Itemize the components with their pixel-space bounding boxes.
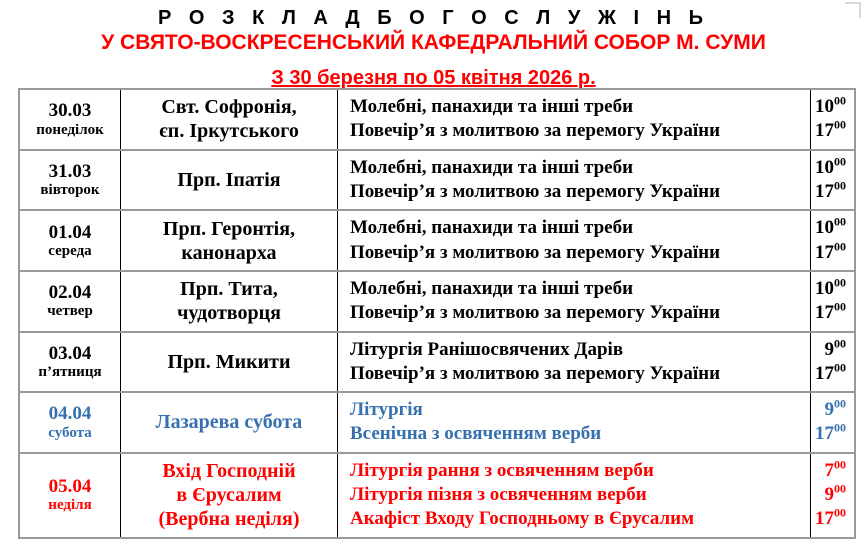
page-title: Р О З К Л А Д Б О Г О С Л У Ж І Н Ь xyxy=(0,7,867,29)
cell-times: 10001700 xyxy=(811,150,856,211)
table-row: 03.04п’ятницяПрп. МикитиЛітургія Ранішос… xyxy=(19,332,855,393)
service-time: 1700 xyxy=(813,180,852,204)
time-minutes: 00 xyxy=(834,300,846,314)
cell-date: 31.03вівторок xyxy=(19,150,121,211)
document-header: Р О З К Л А Д Б О Г О С Л У Ж І Н Ь У СВ… xyxy=(0,0,867,90)
service-time: 1000 xyxy=(813,156,852,180)
time-hour: 17 xyxy=(815,181,834,202)
time-hour: 9 xyxy=(825,339,835,360)
weekday-name: четвер xyxy=(22,303,118,320)
date-number: 01.04 xyxy=(22,222,118,243)
time-hour: 9 xyxy=(825,484,835,505)
service-name: Всенічна з освяченням верби xyxy=(340,422,808,446)
time-minutes: 00 xyxy=(834,482,846,496)
cell-services: Молебні, панахиди та інші требиПовечір’я… xyxy=(338,150,811,211)
cell-services: Молебні, панахиди та інші требиПовечір’я… xyxy=(338,271,811,332)
date-number: 05.04 xyxy=(22,476,118,497)
time-minutes: 00 xyxy=(834,154,846,168)
time-minutes: 00 xyxy=(834,179,846,193)
cell-services: Літургія Ранішосвячених ДарівПовечір’я з… xyxy=(338,332,811,393)
time-minutes: 00 xyxy=(834,276,846,290)
time-hour: 17 xyxy=(815,242,834,263)
service-name: Літургія xyxy=(340,398,808,422)
service-time: 1700 xyxy=(813,119,852,143)
cell-commemoration: Прп. Микити xyxy=(121,332,338,393)
table-row: 02.04четверПрп. Тита,чудотворцяМолебні, … xyxy=(19,271,855,332)
service-time: 1000 xyxy=(813,216,852,240)
page-subtitle: У СВЯТО-ВОСКРЕСЕНСЬКИЙ КАФЕДРАЛЬНИЙ СОБО… xyxy=(0,31,867,55)
time-hour: 17 xyxy=(815,423,834,444)
cell-times: 10001700 xyxy=(811,271,856,332)
time-minutes: 00 xyxy=(834,336,846,350)
date-number: 03.04 xyxy=(22,343,118,364)
time-hour: 7 xyxy=(825,460,835,481)
weekday-name: понеділок xyxy=(22,122,118,139)
cell-times: 9001700 xyxy=(811,392,856,453)
cell-date: 01.04середа xyxy=(19,210,121,271)
time-minutes: 00 xyxy=(834,457,846,471)
service-time: 1000 xyxy=(813,277,852,301)
service-time: 1700 xyxy=(813,507,852,531)
schedule-table: 30.03понеділокСвт. Софронія,єп. Іркутськ… xyxy=(18,88,856,539)
cell-services: Молебні, панахиди та інші требиПовечір’я… xyxy=(338,210,811,271)
cell-services: Молебні, панахиди та інші требиПовечір’я… xyxy=(338,89,811,150)
service-time: 900 xyxy=(813,398,852,422)
table-row: 04.04суботаЛазарева суботаЛітургіяВсеніч… xyxy=(19,392,855,453)
table-row: 30.03понеділокСвт. Софронія,єп. Іркутськ… xyxy=(19,89,855,150)
service-name: Літургія пізня з освяченням верби xyxy=(340,483,808,507)
commemoration-line: Прп. Геронтія, xyxy=(123,217,335,241)
service-name: Молебні, панахиди та інші треби xyxy=(340,156,808,180)
service-time: 1700 xyxy=(813,301,852,325)
table-row: 31.03вівторокПрп. ІпатіяМолебні, панахид… xyxy=(19,150,855,211)
time-hour: 17 xyxy=(815,120,834,141)
time-hour: 10 xyxy=(815,278,834,299)
service-name: Літургія рання з освяченням верби xyxy=(340,459,808,483)
weekday-name: неділя xyxy=(22,497,118,514)
date-number: 30.03 xyxy=(22,100,118,121)
commemoration-line: Прп. Тита, xyxy=(123,277,335,301)
time-hour: 17 xyxy=(815,302,834,323)
table-row: 05.04неділяВхід Господнійв Єрусалим(Верб… xyxy=(19,453,855,538)
time-minutes: 00 xyxy=(834,397,846,411)
cell-services: Літургія рання з освяченням вербиЛітургі… xyxy=(338,453,811,538)
page-corner-mark xyxy=(845,2,861,18)
time-minutes: 00 xyxy=(834,94,846,108)
table-row: 01.04середаПрп. Геронтія,канонархаМолебн… xyxy=(19,210,855,271)
time-minutes: 00 xyxy=(834,215,846,229)
weekday-name: субота xyxy=(22,425,118,442)
weekday-name: вівторок xyxy=(22,182,118,199)
cell-commemoration: Лазарева субота xyxy=(121,392,338,453)
cell-commemoration: Прп. Геронтія,канонарха xyxy=(121,210,338,271)
service-time: 700 xyxy=(813,459,852,483)
service-time: 900 xyxy=(813,483,852,507)
service-time: 1700 xyxy=(813,241,852,265)
service-name: Молебні, панахиди та інші треби xyxy=(340,216,808,240)
service-name: Акафіст Входу Господньому в Єрусалим xyxy=(340,507,808,531)
commemoration-line: Вхід Господній xyxy=(123,459,335,483)
cell-services: ЛітургіяВсенічна з освяченням верби xyxy=(338,392,811,453)
time-minutes: 00 xyxy=(834,239,846,253)
cell-times: 10001700 xyxy=(811,210,856,271)
time-minutes: 00 xyxy=(834,421,846,435)
cell-date: 02.04четвер xyxy=(19,271,121,332)
time-hour: 10 xyxy=(815,157,834,178)
time-minutes: 00 xyxy=(834,360,846,374)
date-number: 02.04 xyxy=(22,282,118,303)
commemoration-line: (Вербна неділя) xyxy=(123,507,335,531)
service-time: 900 xyxy=(813,338,852,362)
weekday-name: п’ятниця xyxy=(22,364,118,381)
cell-times: 7009001700 xyxy=(811,453,856,538)
service-name: Молебні, панахиди та інші треби xyxy=(340,95,808,119)
service-name: Повечір’я з молитвою за перемогу України xyxy=(340,301,808,325)
date-range: З 30 березня по 05 квітня 2026 р. xyxy=(0,67,867,90)
time-minutes: 00 xyxy=(834,506,846,520)
commemoration-line: Лазарева субота xyxy=(123,410,335,434)
service-name: Повечір’я з молитвою за перемогу України xyxy=(340,119,808,143)
time-hour: 10 xyxy=(815,217,834,238)
cell-date: 03.04п’ятниця xyxy=(19,332,121,393)
commemoration-line: єп. Іркутського xyxy=(123,119,335,143)
cell-times: 9001700 xyxy=(811,332,856,393)
service-name: Молебні, панахиди та інші треби xyxy=(340,277,808,301)
cell-commemoration: Прп. Іпатія xyxy=(121,150,338,211)
time-minutes: 00 xyxy=(834,118,846,132)
service-time: 1700 xyxy=(813,362,852,386)
commemoration-line: Прп. Іпатія xyxy=(123,168,335,192)
commemoration-line: Прп. Микити xyxy=(123,350,335,374)
time-hour: 10 xyxy=(815,96,834,117)
cell-date: 05.04неділя xyxy=(19,453,121,538)
cell-commemoration: Свт. Софронія,єп. Іркутського xyxy=(121,89,338,150)
cell-commemoration: Вхід Господнійв Єрусалим(Вербна неділя) xyxy=(121,453,338,538)
commemoration-line: чудотворця xyxy=(123,301,335,325)
service-name: Повечір’я з молитвою за перемогу України xyxy=(340,241,808,265)
cell-date: 04.04субота xyxy=(19,392,121,453)
time-hour: 17 xyxy=(815,363,834,384)
commemoration-line: канонарха xyxy=(123,241,335,265)
time-hour: 17 xyxy=(815,508,834,529)
service-time: 1700 xyxy=(813,422,852,446)
commemoration-line: Свт. Софронія, xyxy=(123,95,335,119)
cell-times: 10001700 xyxy=(811,89,856,150)
time-hour: 9 xyxy=(825,399,835,420)
weekday-name: середа xyxy=(22,243,118,260)
cell-date: 30.03понеділок xyxy=(19,89,121,150)
service-name: Повечір’я з молитвою за перемогу України xyxy=(340,180,808,204)
cell-commemoration: Прп. Тита,чудотворця xyxy=(121,271,338,332)
commemoration-line: в Єрусалим xyxy=(123,483,335,507)
service-name: Повечір’я з молитвою за перемогу України xyxy=(340,362,808,386)
service-time: 1000 xyxy=(813,95,852,119)
date-number: 04.04 xyxy=(22,403,118,424)
date-number: 31.03 xyxy=(22,161,118,182)
service-name: Літургія Ранішосвячених Дарів xyxy=(340,338,808,362)
schedule-container: 30.03понеділокСвт. Софронія,єп. Іркутськ… xyxy=(18,88,849,539)
